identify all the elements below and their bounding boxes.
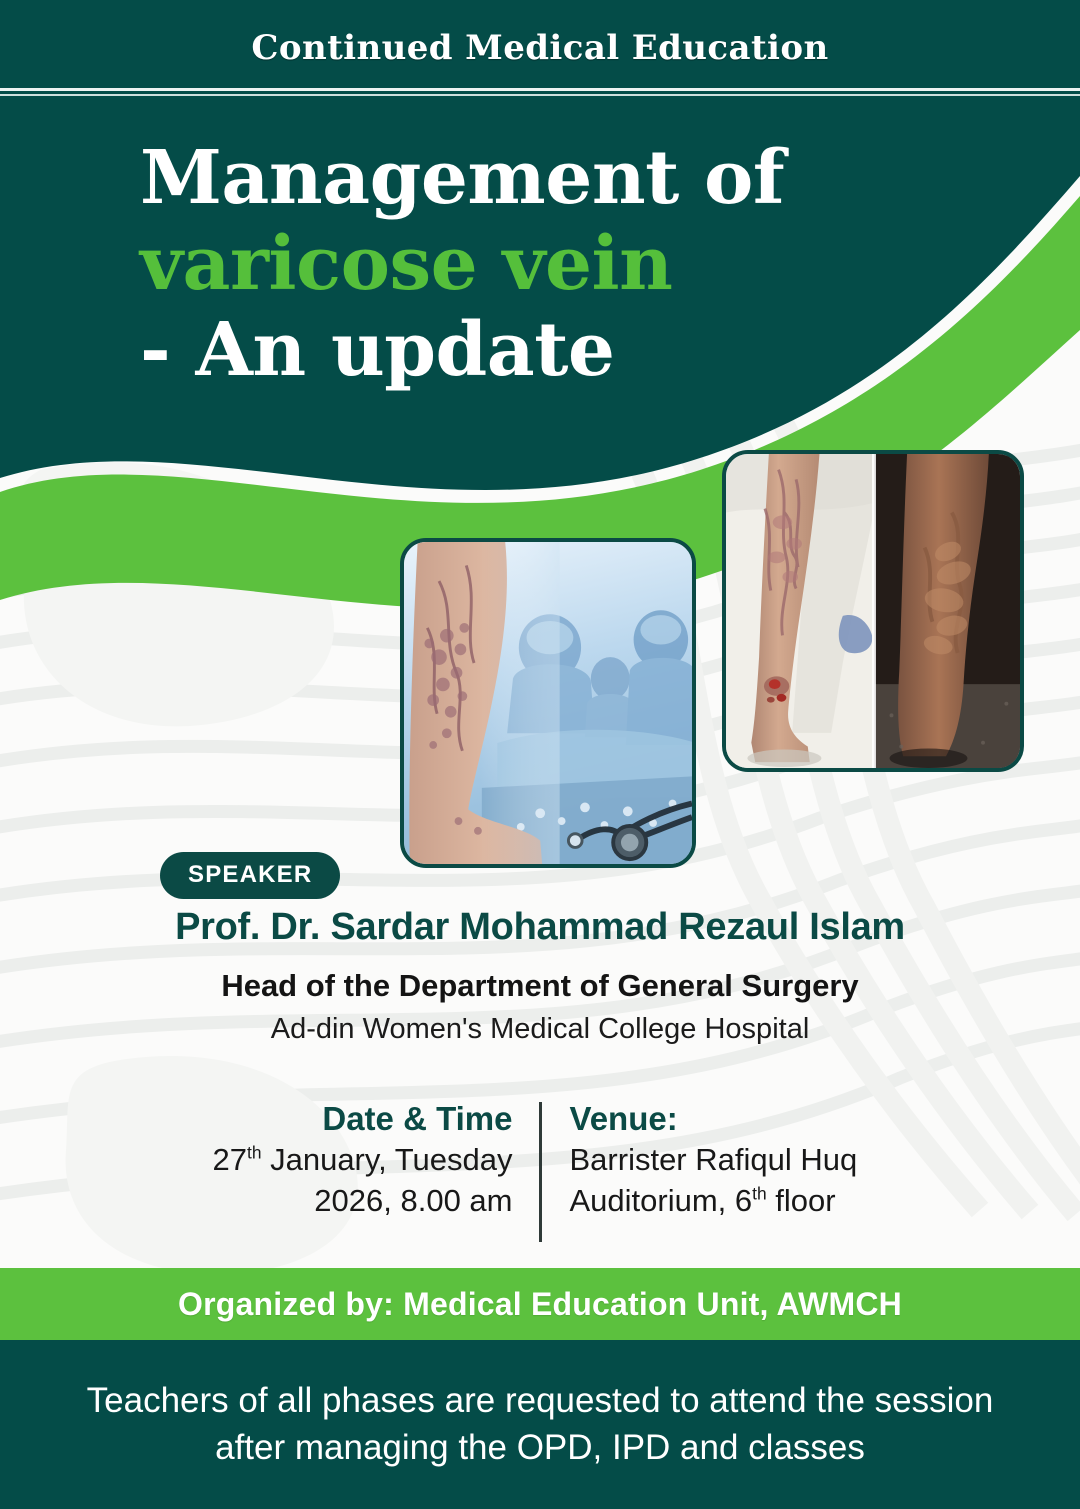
venue-heading: Venue: (570, 1098, 922, 1140)
title-line-2-accent: varicose vein (140, 222, 920, 308)
date-time-block: Date & Time 27th January, Tuesday 2026, … (159, 1098, 539, 1221)
date-day: 27 (213, 1142, 247, 1177)
venue-floor-rest: floor (767, 1183, 836, 1218)
venue-floor-prefix: Auditorium, 6 (570, 1183, 753, 1218)
date-rest: January, Tuesday (261, 1142, 512, 1177)
venue-line-1: Barrister Rafiqul Huq (570, 1140, 922, 1180)
page-title: Management of varicose vein - An update (140, 136, 920, 393)
speaker-badge: SPEAKER (160, 852, 340, 899)
date-day-suffix: th (247, 1143, 261, 1163)
venue-floor-suffix: th (752, 1183, 766, 1203)
venue-block: Venue: Barrister Rafiqul Huq Auditorium,… (542, 1098, 922, 1221)
banner-title: Continued Medical Education (251, 28, 828, 68)
speaker-organization: Ad-din Women's Medical College Hospital (0, 1013, 1080, 1046)
footer-text-wrap: Teachers of all phases are requested to … (30, 1378, 1050, 1472)
date-line-1: 27th January, Tuesday (159, 1140, 513, 1180)
date-line-2: 2026, 8.00 am (159, 1181, 513, 1221)
speaker-role: Head of the Department of General Surger… (0, 968, 1080, 1004)
speaker-name: Prof. Dr. Sardar Mohammad Rezaul Islam (0, 906, 1080, 949)
event-details: Date & Time 27th January, Tuesday 2026, … (0, 1098, 1080, 1258)
footer-line-2: after managing the OPD, IPD and classes (215, 1428, 865, 1467)
banner-divider-line-upper (0, 88, 1080, 91)
title-line-1: Management of (140, 136, 920, 222)
title-line-3: - An update (140, 308, 920, 394)
varicose-leg-and-operating-theatre-photo (400, 538, 696, 868)
organizer-text: Organized by: Medical Education Unit, AW… (178, 1286, 902, 1323)
banner-divider-line-lower (0, 94, 1080, 96)
poster-root: Continued Medical Education Management o… (0, 0, 1080, 1509)
organizer-band: Organized by: Medical Education Unit, AW… (0, 1268, 1080, 1340)
footer-line-1: Teachers of all phases are requested to … (87, 1381, 994, 1420)
venue-line-2: Auditorium, 6th floor (570, 1181, 922, 1221)
footer-notice: Teachers of all phases are requested to … (0, 1340, 1080, 1509)
clinical-varicose-legs-photo (722, 450, 1024, 772)
date-time-heading: Date & Time (159, 1098, 513, 1140)
top-banner: Continued Medical Education (0, 0, 1080, 96)
